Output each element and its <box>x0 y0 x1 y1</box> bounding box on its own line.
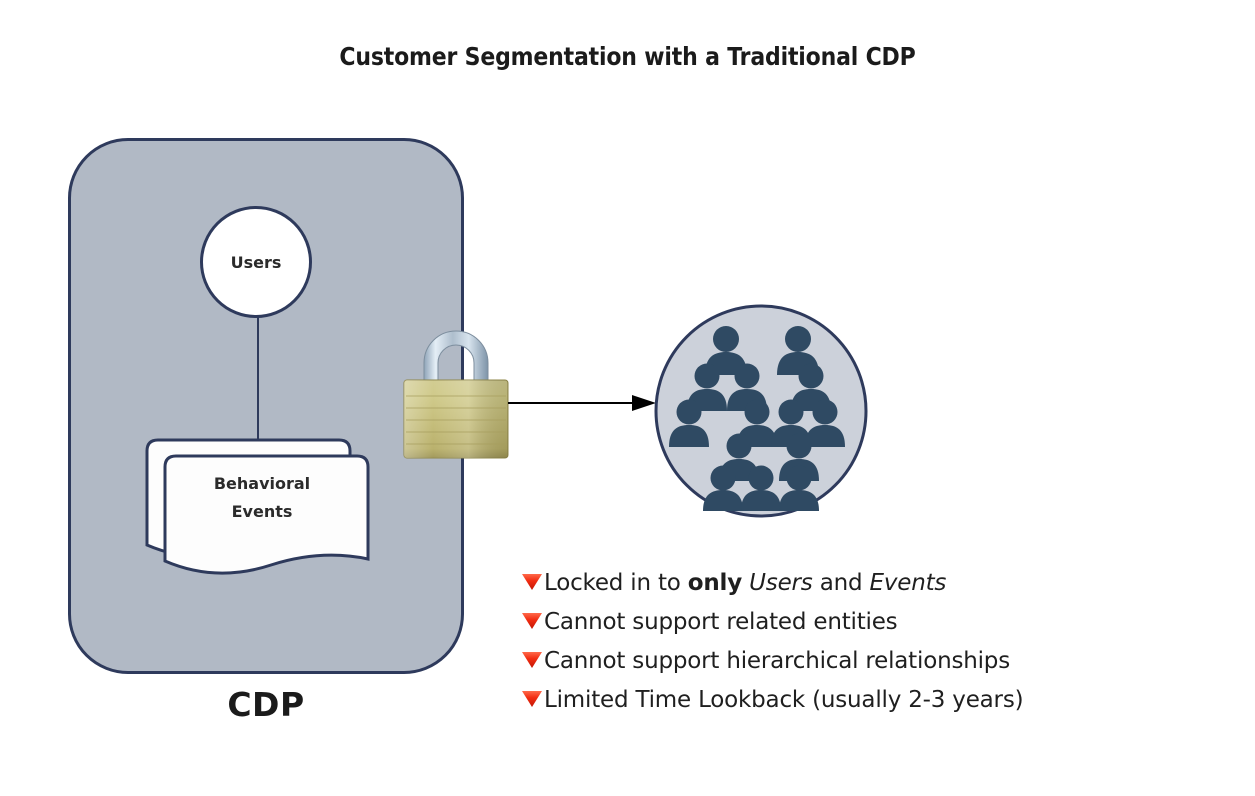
list-item-text: Limited Time Lookback (usually 2-3 years… <box>544 682 1023 718</box>
list-item: Locked in to only Users and Events <box>520 565 1160 601</box>
events-label-line1: Behavioral <box>158 470 366 498</box>
triangle-down-icon <box>520 648 544 684</box>
limitations-list: Locked in to only Users and Events Canno… <box>520 565 1160 721</box>
cdp-caption: CDP <box>68 685 464 724</box>
arrow-right-icon <box>508 392 656 414</box>
list-item-text: Cannot support hierarchical relationship… <box>544 643 1010 679</box>
people-group-icon <box>653 303 869 519</box>
users-node[interactable]: Users <box>200 206 312 318</box>
connector-line <box>257 305 259 445</box>
triangle-down-icon <box>520 687 544 723</box>
list-item: Cannot support related entities <box>520 604 1160 640</box>
page-title: Customer Segmentation with a Traditional… <box>75 42 1179 71</box>
events-label-line2: Events <box>158 498 366 526</box>
users-node-label: Users <box>231 253 282 272</box>
list-item: Limited Time Lookback (usually 2-3 years… <box>520 682 1160 718</box>
triangle-down-icon <box>520 570 544 606</box>
triangle-down-icon <box>520 609 544 645</box>
list-item: Cannot support hierarchical relationship… <box>520 643 1160 679</box>
list-item-text: Locked in to only Users and Events <box>544 565 946 601</box>
audience-node[interactable] <box>653 303 869 519</box>
list-item-text: Cannot support related entities <box>544 604 897 640</box>
padlock-icon <box>396 318 516 466</box>
behavioral-events-label: Behavioral Events <box>158 470 366 526</box>
